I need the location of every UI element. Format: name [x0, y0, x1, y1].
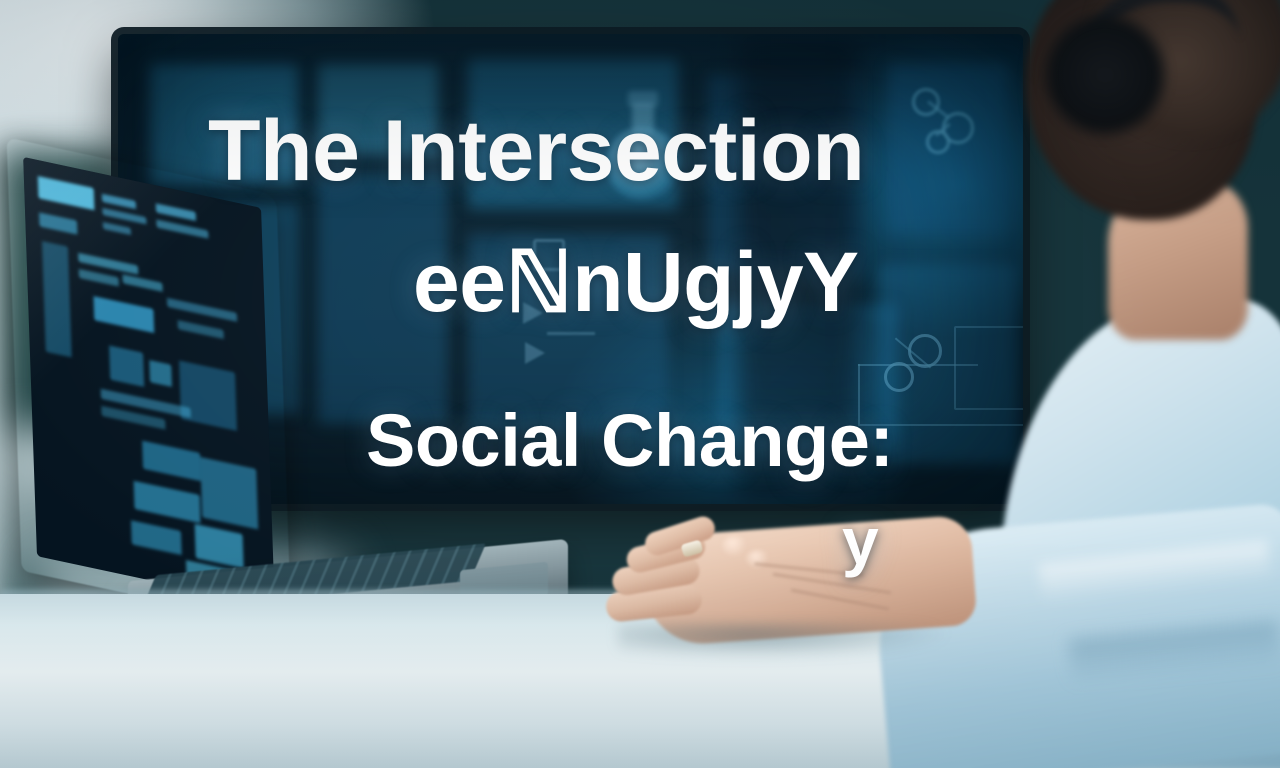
header-graphic: The Intersection eeℕnUgjyY Social Change… [0, 0, 1280, 768]
dashboard-panel [318, 64, 438, 154]
knuckle [722, 536, 748, 556]
connected-nodes-icon [908, 82, 998, 162]
hand-on-desk [604, 516, 1024, 686]
laptop-screen [23, 157, 275, 607]
lightbulb-icon [588, 89, 698, 239]
headphone-earcup [1040, 10, 1170, 140]
laptop-screen-glare [23, 157, 275, 607]
circuit-network-icon [858, 304, 1023, 484]
dashboard-panel [148, 64, 298, 184]
hand-shadow [618, 624, 948, 658]
monitor-dark-column [738, 34, 858, 504]
